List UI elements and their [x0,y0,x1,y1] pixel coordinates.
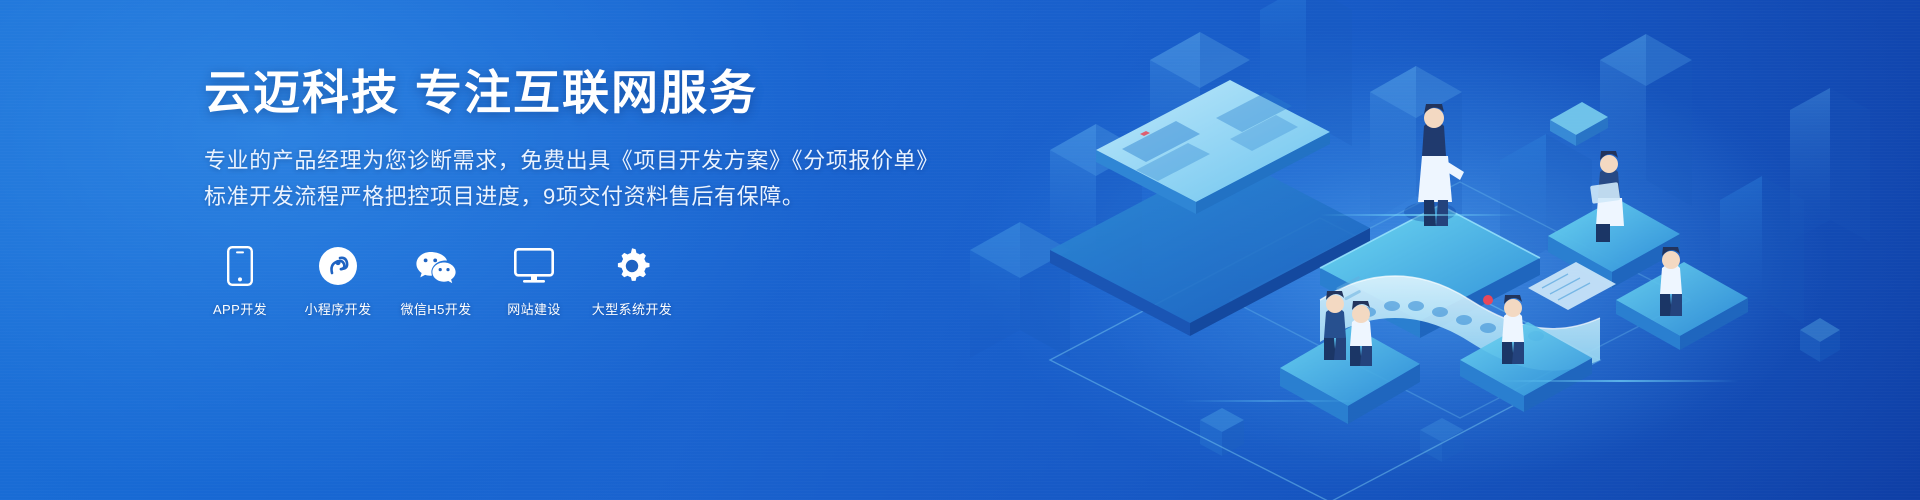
wechat-icon [414,245,458,287]
banner-content: 云迈科技 专注互联网服务 专业的产品经理为您诊断需求，免费出具《项目开发方案》《… [204,64,1024,318]
service-item-large-system[interactable]: 大型系统开发 [596,245,668,318]
isometric-tech-team-illustration [900,0,1920,500]
monitor-icon [514,245,554,287]
service-label: 小程序开发 [304,299,371,318]
service-item-mini-program[interactable]: 小程序开发 [302,245,374,318]
service-item-app[interactable]: APP开发 [204,245,276,318]
gear-icon [612,245,652,287]
service-item-wechat-h5[interactable]: 微信H5开发 [400,245,472,318]
mobile-phone-icon [227,245,253,287]
banner-subtitle: 专业的产品经理为您诊断需求，免费出具《项目开发方案》《分项报价单》 标准开发流程… [204,143,1024,214]
service-label: APP开发 [213,299,267,318]
person-standing-midright [1502,295,1524,364]
subtitle-line-2: 标准开发流程严格把控项目进度，9项交付资料售后有保障。 [204,179,1024,215]
service-label: 网站建设 [507,299,561,318]
service-icon-list: APP开发 小程序开发 [204,245,1024,318]
service-item-website[interactable]: 网站建设 [498,245,570,318]
person-standing-right [1660,247,1682,316]
mini-program-icon [318,245,358,287]
subtitle-line-1: 专业的产品经理为您诊断需求，免费出具《项目开发方案》《分项报价单》 [204,143,1024,179]
service-label: 微信H5开发 [400,299,471,318]
promo-banner: 云迈科技 专注互联网服务 专业的产品经理为您诊断需求，免费出具《项目开发方案》《… [0,0,1920,500]
service-label: 大型系统开发 [592,299,672,318]
page-title: 云迈科技 专注互联网服务 [204,64,1024,121]
